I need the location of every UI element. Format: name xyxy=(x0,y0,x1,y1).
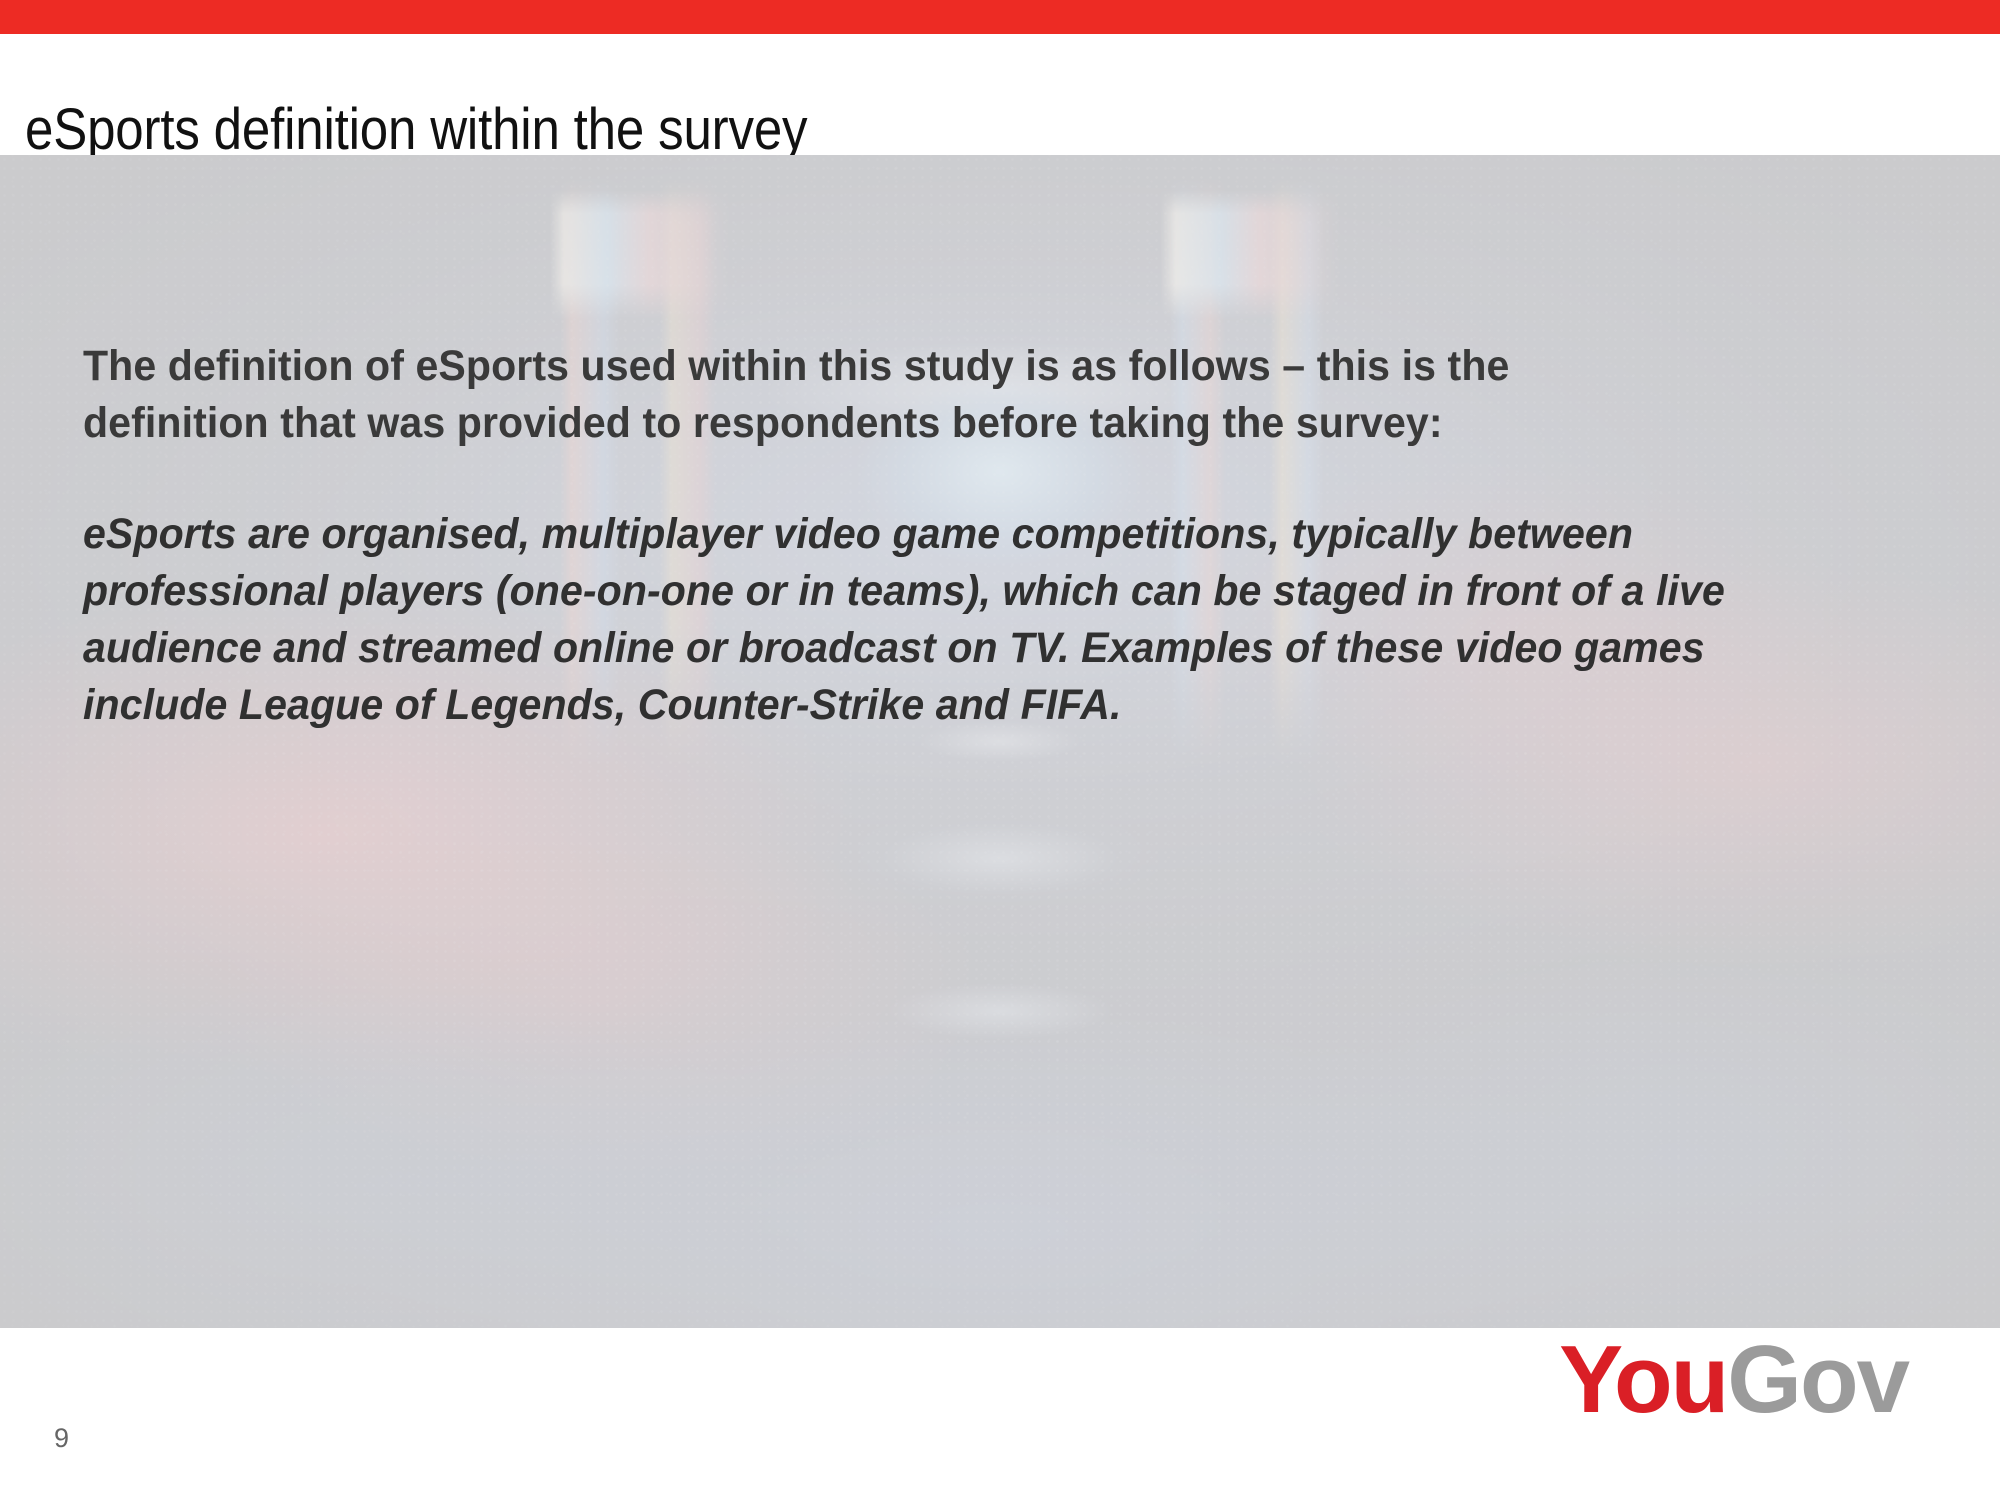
logo-you-text: You xyxy=(1559,1326,1727,1433)
intro-paragraph: The definition of eSports used within th… xyxy=(83,338,1707,452)
page-title: eSports definition within the survey xyxy=(25,96,807,163)
top-accent-bar xyxy=(0,0,2000,34)
yougov-logo: YouGov xyxy=(1559,1332,1908,1428)
title-band: eSports definition within the survey xyxy=(0,34,2000,155)
definition-paragraph: eSports are organised, multiplayer video… xyxy=(83,506,1802,734)
logo-gov-text: Gov xyxy=(1727,1326,1908,1433)
background-photo: The definition of eSports used within th… xyxy=(0,155,2000,1328)
page-number: 9 xyxy=(54,1423,69,1454)
content-text-block: The definition of eSports used within th… xyxy=(83,295,1893,777)
slide: eSports definition within the survey The… xyxy=(0,0,2000,1500)
footer: 9 YouGov xyxy=(0,1328,2000,1500)
